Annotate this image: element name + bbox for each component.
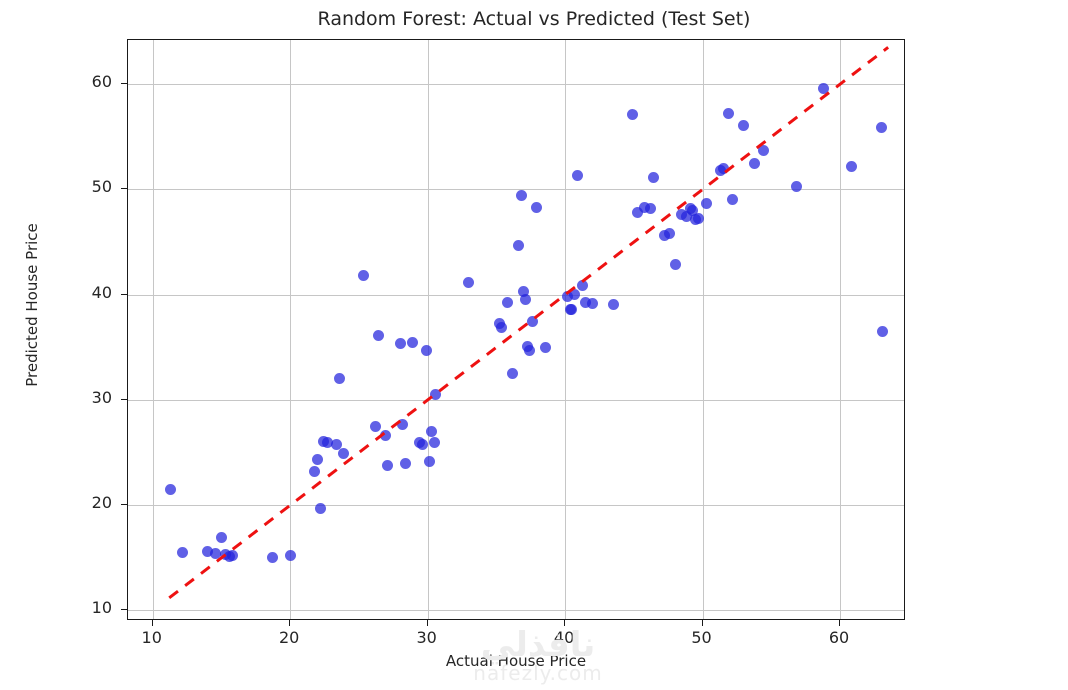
scatter-point xyxy=(373,330,384,341)
scatter-point xyxy=(285,550,296,561)
y-tick-label: 40 xyxy=(52,283,112,302)
scatter-point xyxy=(569,289,580,300)
gridline-vertical xyxy=(428,40,429,619)
scatter-point xyxy=(400,458,411,469)
matplotlib-figure: Random Forest: Actual vs Predicted (Test… xyxy=(0,0,1068,690)
scatter-point xyxy=(496,322,507,333)
scatter-point xyxy=(758,145,769,156)
gridline-vertical xyxy=(565,40,566,619)
x-tick-mark xyxy=(702,620,703,626)
x-tick-label: 30 xyxy=(397,628,457,647)
scatter-point xyxy=(520,294,531,305)
x-tick-mark xyxy=(564,620,565,626)
y-tick-mark xyxy=(121,188,127,189)
gridline-vertical xyxy=(290,40,291,619)
gridline-vertical xyxy=(153,40,154,619)
scatter-point xyxy=(645,203,656,214)
scatter-point xyxy=(513,240,524,251)
x-tick-label: 20 xyxy=(259,628,319,647)
scatter-point xyxy=(627,109,638,120)
scatter-point xyxy=(358,270,369,281)
y-tick-label: 60 xyxy=(52,72,112,91)
x-tick-mark xyxy=(427,620,428,626)
y-tick-label: 30 xyxy=(52,388,112,407)
gridline-vertical xyxy=(703,40,704,619)
y-tick-mark xyxy=(121,294,127,295)
scatter-point xyxy=(718,163,729,174)
scatter-point xyxy=(216,532,227,543)
scatter-point xyxy=(315,503,326,514)
gridline-vertical xyxy=(840,40,841,619)
scatter-point xyxy=(395,338,406,349)
scatter-point xyxy=(727,194,738,205)
x-tick-mark xyxy=(839,620,840,626)
scatter-point xyxy=(531,202,542,213)
scatter-point xyxy=(738,120,749,131)
y-tick-label: 10 xyxy=(52,598,112,617)
scatter-point xyxy=(648,172,659,183)
scatter-point xyxy=(407,337,418,348)
scatter-point xyxy=(723,108,734,119)
scatter-point xyxy=(338,448,349,459)
scatter-point xyxy=(540,342,551,353)
gridline-horizontal xyxy=(128,189,904,190)
scatter-point xyxy=(429,437,440,448)
scatter-point xyxy=(430,389,441,400)
x-axis-label: Actual House Price xyxy=(127,652,905,670)
scatter-point xyxy=(572,170,583,181)
scatter-point xyxy=(877,326,888,337)
scatter-point xyxy=(334,373,345,384)
scatter-point xyxy=(670,259,681,270)
scatter-point xyxy=(664,228,675,239)
x-tick-label: 60 xyxy=(809,628,869,647)
scatter-point xyxy=(426,426,437,437)
scatter-point xyxy=(312,454,323,465)
y-axis-label: Predicted House Price xyxy=(23,205,41,405)
y-tick-label: 50 xyxy=(52,177,112,196)
scatter-point xyxy=(587,298,598,309)
scatter-point xyxy=(177,547,188,558)
scatter-point xyxy=(527,316,538,327)
scatter-point xyxy=(876,122,887,133)
scatter-point xyxy=(577,280,588,291)
plot-area xyxy=(127,39,905,620)
scatter-point xyxy=(608,299,619,310)
x-tick-label: 40 xyxy=(534,628,594,647)
scatter-point xyxy=(370,421,381,432)
y-tick-mark xyxy=(121,83,127,84)
scatter-point xyxy=(380,430,391,441)
x-tick-label: 50 xyxy=(672,628,732,647)
scatter-point xyxy=(421,345,432,356)
scatter-point xyxy=(165,484,176,495)
page-title: Random Forest: Actual vs Predicted (Test… xyxy=(0,8,1068,30)
scatter-point xyxy=(818,83,829,94)
y-tick-mark xyxy=(121,504,127,505)
gridline-horizontal xyxy=(128,400,904,401)
gridline-horizontal xyxy=(128,84,904,85)
x-tick-label: 10 xyxy=(122,628,182,647)
scatter-point xyxy=(846,161,857,172)
ideal-fit-line xyxy=(128,40,905,620)
scatter-point xyxy=(227,550,238,561)
gridline-horizontal xyxy=(128,610,904,611)
y-tick-mark xyxy=(121,399,127,400)
y-tick-label: 20 xyxy=(52,493,112,512)
scatter-point xyxy=(309,466,320,477)
scatter-point xyxy=(701,198,712,209)
y-tick-mark xyxy=(121,609,127,610)
scatter-point xyxy=(791,181,802,192)
scatter-point xyxy=(267,552,278,563)
gridline-horizontal xyxy=(128,505,904,506)
scatter-point xyxy=(417,439,428,450)
scatter-point xyxy=(463,277,474,288)
gridline-horizontal xyxy=(128,295,904,296)
scatter-point xyxy=(502,297,513,308)
scatter-point xyxy=(524,345,535,356)
x-tick-mark xyxy=(289,620,290,626)
scatter-point xyxy=(424,456,435,467)
scatter-point xyxy=(749,158,760,169)
x-tick-mark xyxy=(152,620,153,626)
scatter-point xyxy=(516,190,527,201)
scatter-point xyxy=(566,304,577,315)
scatter-point xyxy=(507,368,518,379)
scatter-point xyxy=(382,460,393,471)
scatter-point xyxy=(397,419,408,430)
